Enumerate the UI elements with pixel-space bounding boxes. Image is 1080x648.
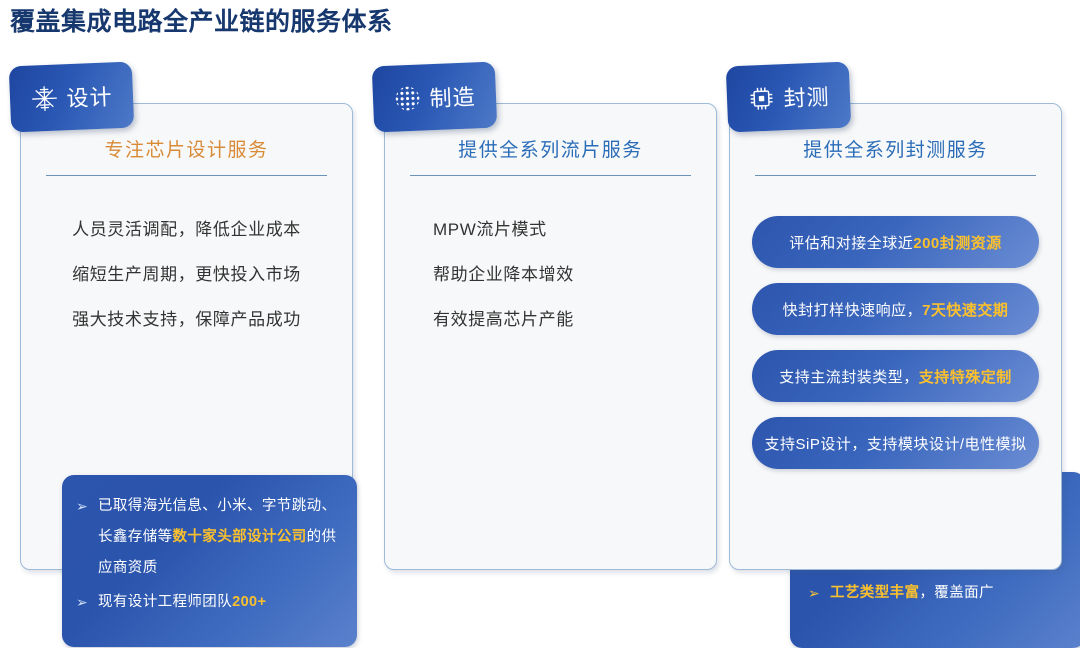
- heading-divider: [46, 175, 327, 176]
- highlight-text: 数十家头部设计公司: [173, 529, 307, 545]
- pill-item[interactable]: 支持SiP设计，支持模块设计/电性模拟: [752, 417, 1039, 469]
- bullet-text: 工艺类型丰富，覆盖面广: [830, 579, 1069, 607]
- pill-text: 支持SiP设计，支持模块设计/电性模拟: [764, 433, 1026, 454]
- highlight-text: 200+: [232, 594, 266, 610]
- tab-label: 封测: [783, 79, 830, 113]
- page-title: 覆盖集成电路全产业链的服务体系: [10, 2, 393, 38]
- wafer-dots-icon: [393, 83, 423, 113]
- body-text: 评估和对接全球近: [789, 235, 913, 252]
- highlight-text: 7天快速交期: [922, 302, 1008, 319]
- pill-item[interactable]: 快封打样快速响应，7天快速交期: [752, 283, 1039, 335]
- card-design: 专注芯片设计服务 人员灵活调配，降低企业成本 缩短生产周期，更快投入市场 强大技…: [20, 103, 353, 570]
- tab-packaging-test[interactable]: 封测: [726, 62, 852, 133]
- body-text: 支持SiP设计，支持模块设计/电性模拟: [764, 436, 1026, 453]
- pill-text: 评估和对接全球近200封测资源: [789, 232, 1002, 253]
- body-text: 快封打样快速响应，: [783, 302, 923, 319]
- tab-design[interactable]: 设计: [9, 62, 135, 133]
- feature-list-manufacturing: MPW流片模式 帮助企业降本增效 有效提高芯片产能: [385, 207, 716, 342]
- card-heading-design: 专注芯片设计服务: [21, 135, 352, 162]
- body-text: ，覆盖面广: [919, 585, 994, 601]
- pill-text: 快封打样快速响应，7天快速交期: [783, 299, 1009, 320]
- highlight-text: 工艺类型丰富: [830, 585, 919, 601]
- card-heading-manufacturing: 提供全系列流片服务: [385, 135, 716, 162]
- pill-item[interactable]: 支持主流封装类型，支持特殊定制: [752, 350, 1039, 402]
- chevron-bullet-icon: ➢: [76, 587, 98, 618]
- ic-chip-icon: [747, 83, 777, 113]
- card-packaging-test: 提供全系列封测服务 评估和对接全球近200封测资源快封打样快速响应，7天快速交期…: [729, 103, 1062, 570]
- heading-divider: [755, 175, 1036, 176]
- pill-item[interactable]: 评估和对接全球近200封测资源: [752, 216, 1039, 268]
- bullet-text: 已取得海光信息、小米、字节跳动、长鑫存储等数十家头部设计公司的供应商资质: [98, 491, 341, 584]
- card-manufacturing: 提供全系列流片服务 MPW流片模式 帮助企业降本增效 有效提高芯片产能 ➢对接多…: [384, 103, 717, 570]
- chevron-bullet-icon: ➢: [808, 579, 830, 607]
- bullet-text: 现有设计工程师团队200+: [98, 587, 341, 618]
- list-item: 强大技术支持，保障产品成功: [21, 297, 352, 342]
- pill-list-packaging-test: 评估和对接全球近200封测资源快封打样快速响应，7天快速交期支持主流封装类型，支…: [752, 216, 1039, 484]
- feature-list-design: 人员灵活调配，降低企业成本 缩短生产周期，更快投入市场 强大技术支持，保障产品成…: [21, 207, 352, 342]
- pill-text: 支持主流封装类型，支持特殊定制: [779, 366, 1012, 387]
- slide-root: 覆盖集成电路全产业链的服务体系 专注芯片设计服务 人员灵活调配，降低企业成本 缩…: [0, 0, 1080, 577]
- highlight-text: 支持特殊定制: [919, 369, 1012, 386]
- list-item: 缩短生产周期，更快投入市场: [21, 252, 352, 297]
- list-item: 有效提高芯片产能: [385, 297, 716, 342]
- list-item: 帮助企业降本增效: [385, 252, 716, 297]
- list-item: 人员灵活调配，降低企业成本: [21, 207, 352, 252]
- bullet-item: ➢工艺类型丰富，覆盖面广: [808, 579, 1069, 607]
- list-item: MPW流片模式: [385, 207, 716, 252]
- chip-snowflake-icon: [30, 83, 60, 113]
- card-heading-packaging-test: 提供全系列封测服务: [730, 135, 1061, 162]
- chevron-bullet-icon: ➢: [76, 491, 98, 522]
- bullet-item: ➢已取得海光信息、小米、字节跳动、长鑫存储等数十家头部设计公司的供应商资质: [76, 491, 341, 584]
- body-text: 现有设计工程师团队: [98, 594, 232, 610]
- heading-divider: [410, 175, 691, 176]
- tab-label: 制造: [429, 79, 476, 113]
- body-text: 支持主流封装类型，: [779, 369, 919, 386]
- tab-label: 设计: [66, 79, 113, 113]
- bullet-item: ➢现有设计工程师团队200+: [76, 587, 341, 618]
- tab-manufacturing[interactable]: 制造: [372, 62, 498, 133]
- highlight-box-design: ➢已取得海光信息、小米、字节跳动、长鑫存储等数十家头部设计公司的供应商资质➢现有…: [62, 475, 357, 647]
- highlight-text: 200封测资源: [913, 235, 1002, 252]
